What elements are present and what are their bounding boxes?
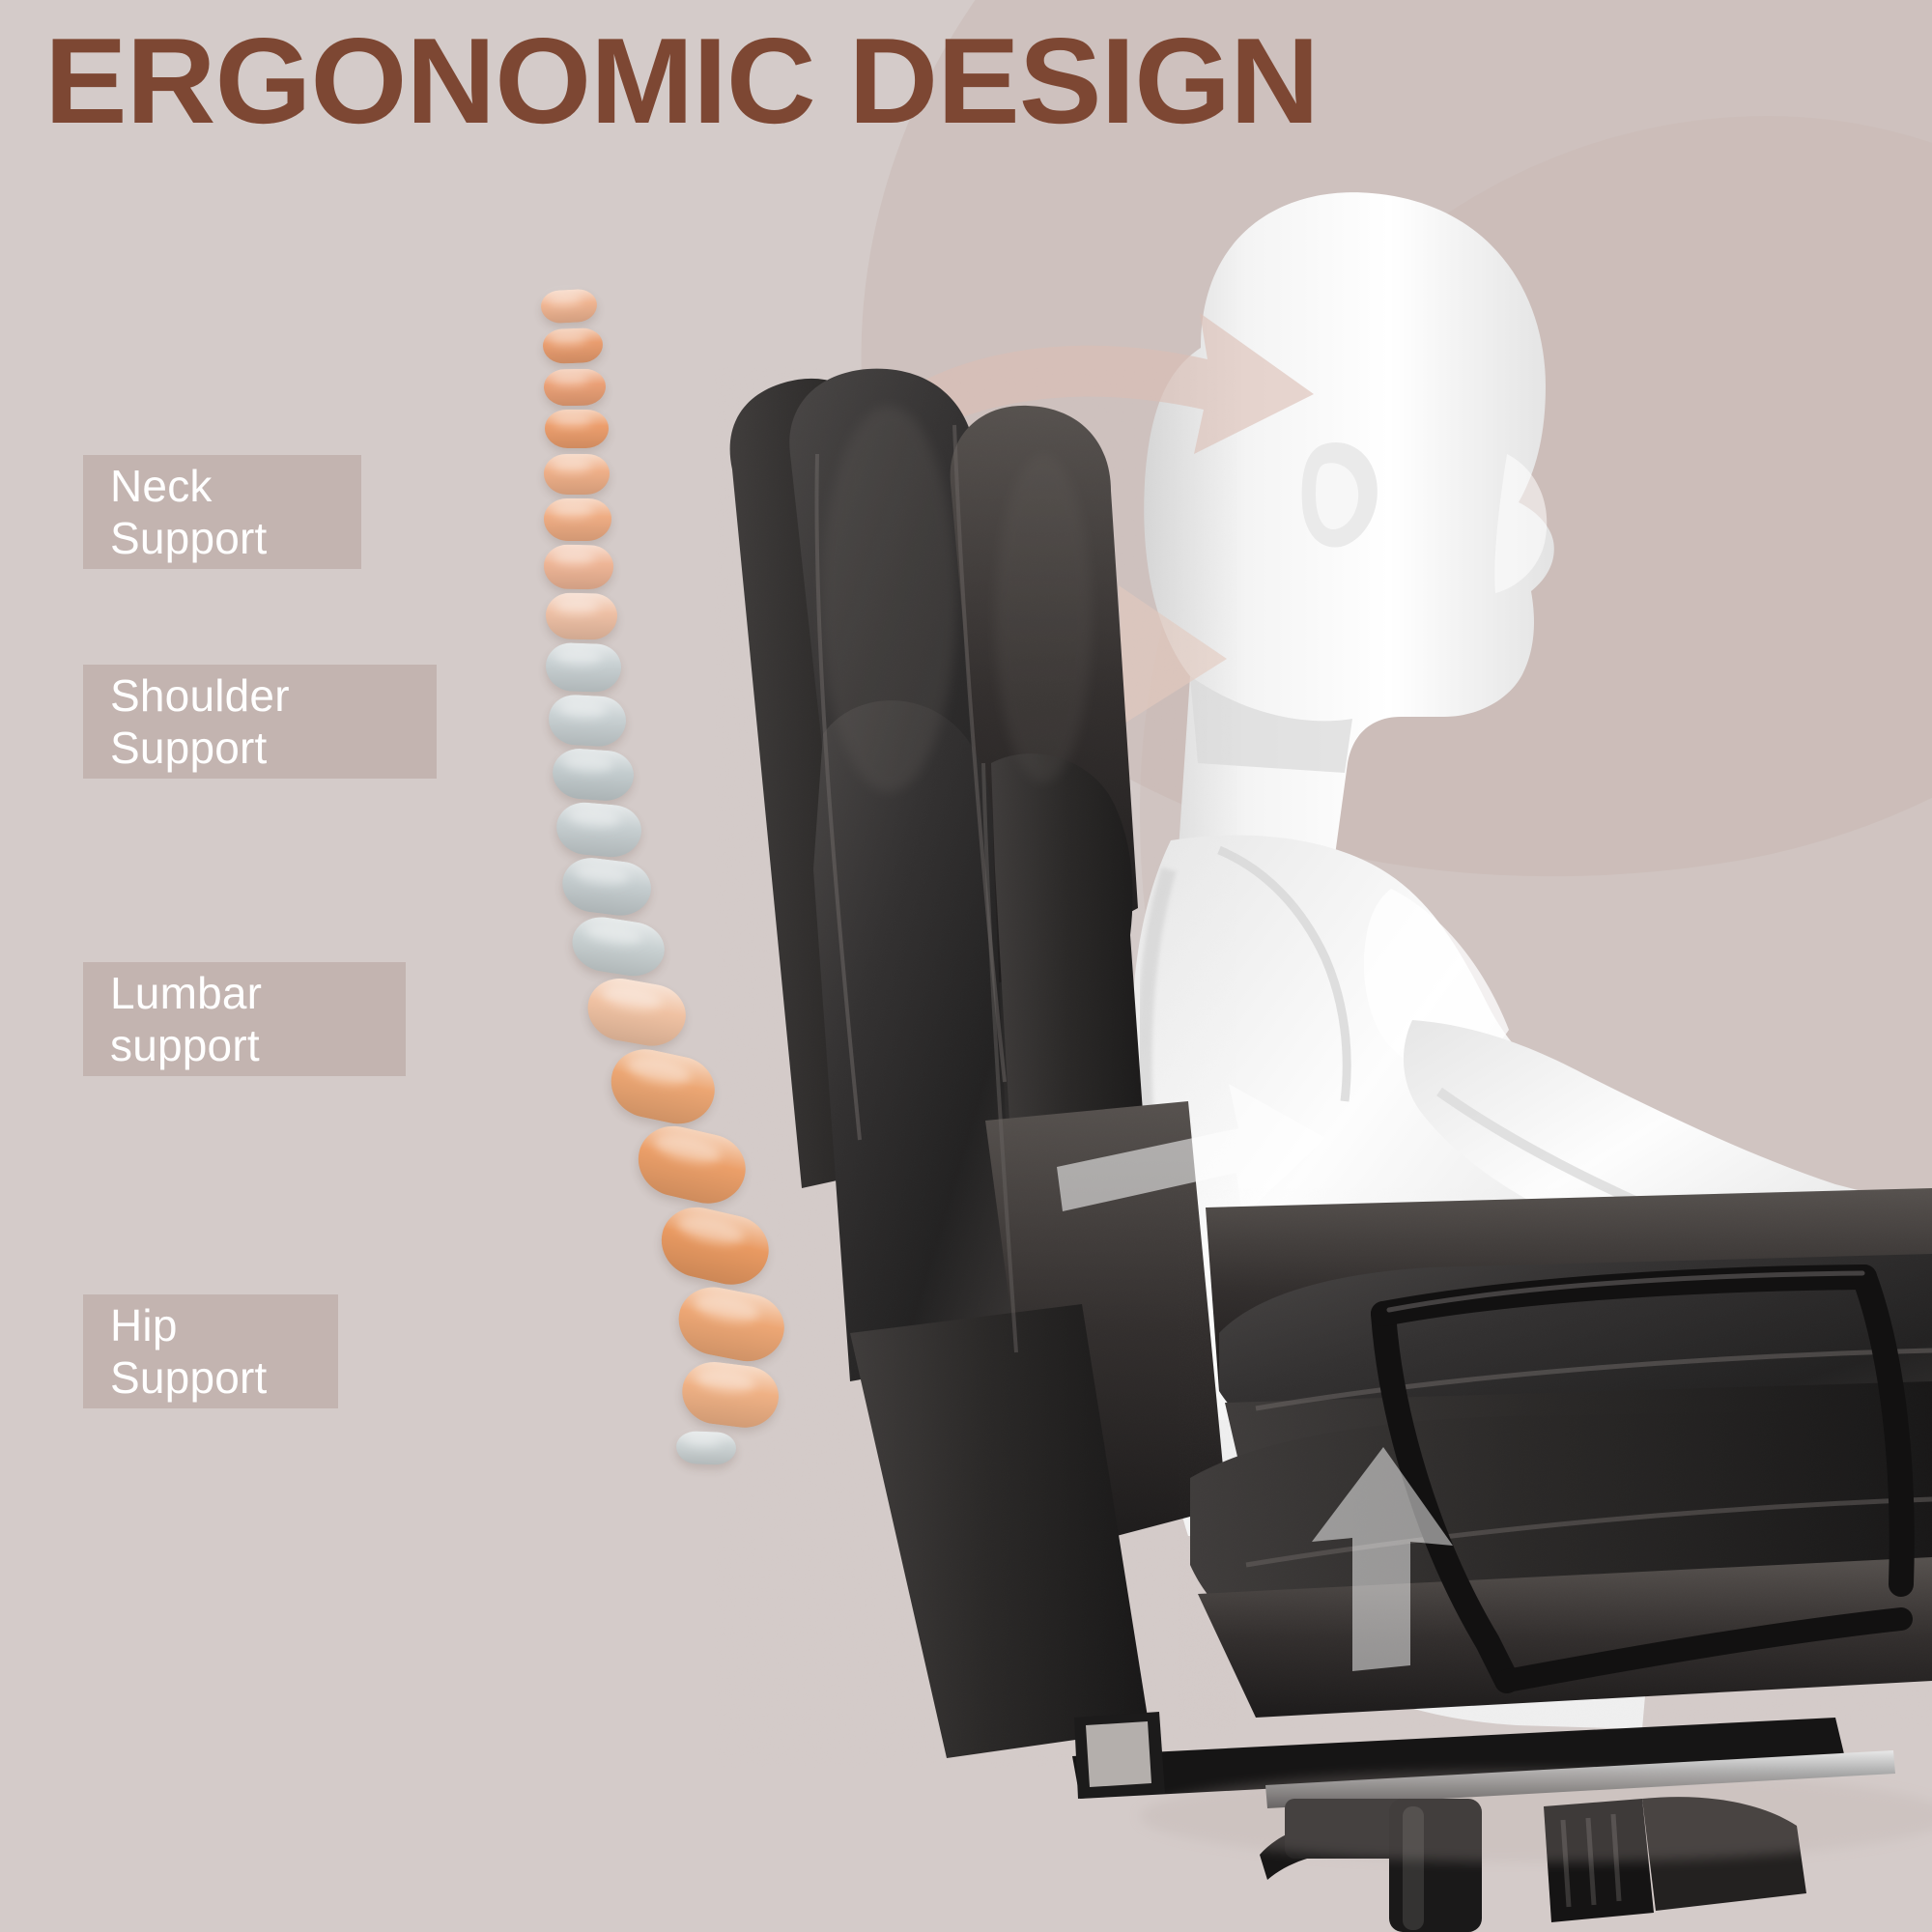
vertebra-9 <box>545 642 622 694</box>
vertebra-15 <box>582 974 691 1052</box>
vertebra-21 <box>675 1431 736 1465</box>
vertebra-7 <box>544 544 614 589</box>
vertebra-5 <box>544 454 610 495</box>
label-lumbar-support[interactable]: Lumbar support <box>83 962 406 1076</box>
vertebra-4 <box>545 410 609 448</box>
label-hip-support[interactable]: Hip Support <box>83 1294 338 1408</box>
vertebra-17 <box>631 1119 752 1210</box>
vertebra-6 <box>544 498 611 541</box>
spine-illustration <box>541 290 947 1256</box>
vertebra-8 <box>546 592 618 639</box>
vertebra-2 <box>542 327 603 364</box>
vertebra-12 <box>554 800 643 859</box>
vertebra-14 <box>568 913 668 980</box>
vertebra-13 <box>559 855 654 920</box>
label-neck-support[interactable]: Neck Support <box>83 455 361 569</box>
page-title: ERGONOMIC DESIGN <box>44 17 1319 145</box>
vertebra-16 <box>605 1043 721 1131</box>
vertebra-10 <box>548 694 628 748</box>
vertebra-11 <box>551 747 635 803</box>
vertebra-1 <box>540 289 598 325</box>
label-shoulder-support[interactable]: Shoulder Support <box>83 665 437 779</box>
infographic-canvas: ERGONOMIC DESIGN Neck Support Shoulder S… <box>0 0 1932 1932</box>
chair-seat-assembly <box>1179 1188 1932 1729</box>
vertebra-3 <box>544 368 607 406</box>
